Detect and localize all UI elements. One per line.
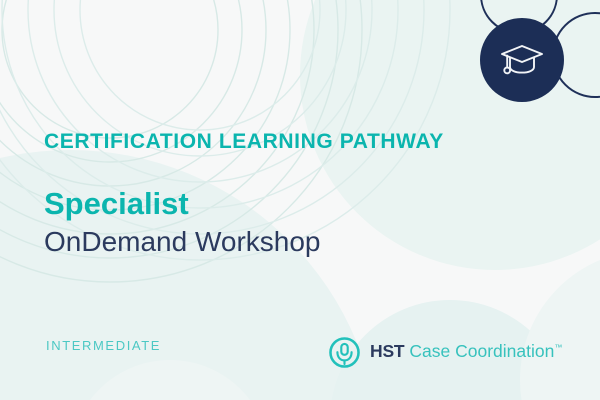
hst-logo: HSTCase Coordination™: [328, 334, 562, 370]
card-text-block: CERTIFICATION LEARNING PATHWAY Specialis…: [44, 130, 514, 258]
hst-logo-text: HSTCase Coordination™: [370, 343, 562, 361]
hst-brand-name: HST: [370, 341, 404, 361]
graduation-cap-icon: [499, 41, 545, 79]
pathway-title: Specialist: [44, 187, 514, 221]
pathway-subtitle: OnDemand Workshop: [44, 226, 514, 258]
pathway-eyebrow: CERTIFICATION LEARNING PATHWAY: [44, 130, 514, 153]
badge-cluster: [440, 0, 600, 140]
trademark-symbol: ™: [554, 343, 562, 352]
difficulty-level-label: INTERMEDIATE: [46, 338, 161, 353]
pathway-badge: [480, 18, 564, 102]
certification-pathway-card: CERTIFICATION LEARNING PATHWAY Specialis…: [0, 0, 600, 400]
hst-product-name: Case Coordination: [409, 341, 554, 361]
hst-microphone-circle-icon: [328, 336, 361, 369]
